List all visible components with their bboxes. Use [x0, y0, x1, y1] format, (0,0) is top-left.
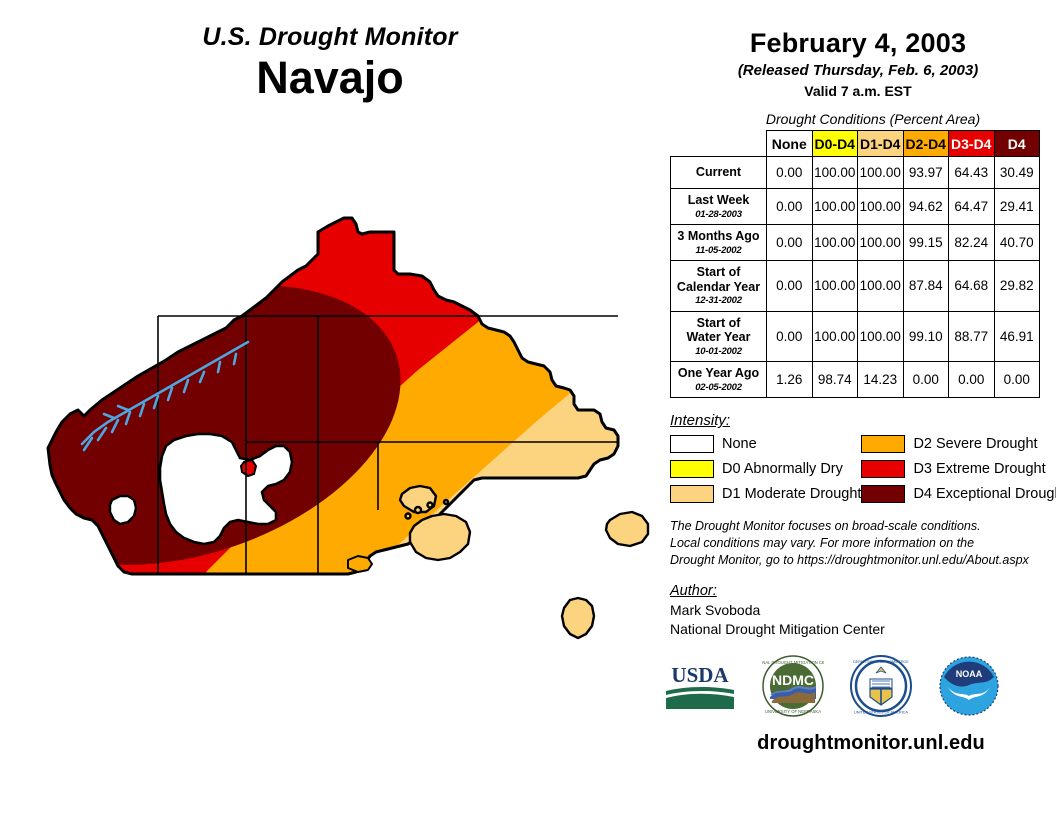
legend-item-d3: D3 Extreme Drought — [861, 459, 1056, 479]
row-label-line: Current — [696, 165, 741, 179]
table-row: Last Week01-28-20030.00100.00100.0094.62… — [671, 189, 1040, 225]
table-row: Start ofWater Year10-01-20020.00100.0010… — [671, 311, 1040, 362]
legend-swatch-d1 — [670, 485, 714, 503]
cell-none: 0.00 — [767, 224, 813, 260]
legend-label-d4: D4 Exceptional Drought — [913, 486, 1056, 502]
column-header-d0-d4: D0-D4 — [812, 131, 858, 157]
svg-text:NDMC: NDMC — [772, 672, 814, 688]
map-drought-bands — [18, 170, 658, 710]
table-body: Current0.00100.00100.0093.9764.4330.49La… — [671, 157, 1040, 398]
cell-d3-d4: 0.00 — [949, 362, 995, 398]
cell-d2-d4: 94.62 — [903, 189, 949, 225]
legend-item-d0: D0 Abnormally Dry — [670, 459, 861, 479]
disclaimer-line-3: Drought Monitor, go to https://droughtmo… — [670, 552, 1056, 569]
cell-none: 0.00 — [767, 189, 813, 225]
cell-d2-d4: 87.84 — [903, 260, 949, 311]
cell-none: 0.00 — [767, 157, 813, 189]
legend-label-none: None — [722, 436, 757, 452]
cell-d2-d4: 99.10 — [903, 311, 949, 362]
table-row: Start ofCalendar Year12-31-20020.00100.0… — [671, 260, 1040, 311]
row-label-5: Start ofWater Year10-01-2002 — [671, 311, 767, 362]
usda-logo[interactable]: USDA — [664, 661, 736, 716]
cell-d0-d4: 98.74 — [812, 362, 858, 398]
legend-swatch-d3 — [861, 460, 905, 478]
legend-label-d0: D0 Abnormally Dry — [722, 461, 843, 477]
row-label-line: Last Week — [688, 193, 750, 207]
region-title: Navajo — [0, 54, 660, 101]
table-header-row: None D0-D4 D1-D4 D2-D4 D3-D4 D4 — [671, 131, 1040, 157]
column-header-d2-d4: D2-D4 — [903, 131, 949, 157]
cell-d1-d4: 100.00 — [858, 224, 904, 260]
cell-d3-d4: 64.68 — [949, 260, 995, 311]
row-label-date: 11-05-2002 — [673, 245, 764, 256]
cell-d2-d4: 93.97 — [903, 157, 949, 189]
drought-monitor-page: U.S. Drought Monitor Navajo — [0, 0, 1056, 816]
row-label-date: 01-28-2003 — [673, 209, 764, 220]
row-label-date: 12-31-2002 — [673, 295, 764, 306]
table-row: 3 Months Ago11-05-20020.00100.00100.0099… — [671, 224, 1040, 260]
right-panel: February 4, 2003 (Released Thursday, Feb… — [660, 0, 1056, 816]
column-header-none: None — [767, 131, 813, 157]
disclaimer-line-1: The Drought Monitor focuses on broad-sca… — [670, 518, 1056, 535]
row-label-3: 3 Months Ago11-05-2002 — [671, 224, 767, 260]
legend-swatch-d0 — [670, 460, 714, 478]
cell-d2-d4: 99.15 — [903, 224, 949, 260]
cell-d1-d4: 100.00 — [858, 260, 904, 311]
row-label-4: Start ofCalendar Year12-31-2002 — [671, 260, 767, 311]
svg-text:UNIVERSITY OF NEBRASKA: UNIVERSITY OF NEBRASKA — [765, 709, 821, 714]
cell-d1-d4: 14.23 — [858, 362, 904, 398]
ndmc-logo[interactable]: NDMC NATIONAL DROUGHT MITIGATION CENTER … — [762, 655, 824, 722]
legend-swatch-none — [670, 435, 714, 453]
author-block: Author: Mark Svoboda National Drought Mi… — [660, 583, 1056, 639]
svg-text:USDA: USDA — [671, 663, 729, 687]
row-label-date: 02-05-2002 — [673, 382, 764, 393]
release-date: (Released Thursday, Feb. 6, 2003) — [660, 62, 1056, 79]
intensity-legend: Intensity: NoneD0 Abnormally DryD1 Moder… — [660, 412, 1056, 504]
author-heading: Author: — [670, 583, 1056, 599]
legend-item-none: None — [670, 434, 861, 454]
valid-date: February 4, 2003 — [660, 28, 1056, 59]
cell-d0-d4: 100.00 — [812, 260, 858, 311]
cell-d0-d4: 100.00 — [812, 157, 858, 189]
disclaimer-line-2: Local conditions may vary. For more info… — [670, 535, 1056, 552]
legend-item-d2: D2 Severe Drought — [861, 434, 1056, 454]
legend-label-d3: D3 Extreme Drought — [913, 461, 1045, 477]
legend-column-right: D2 Severe DroughtD3 Extreme DroughtD4 Ex… — [861, 434, 1056, 504]
cell-none: 0.00 — [767, 260, 813, 311]
cell-d4: 0.00 — [994, 362, 1040, 398]
cell-d0-d4: 100.00 — [812, 224, 858, 260]
title-block: U.S. Drought Monitor Navajo — [0, 24, 660, 101]
cell-d0-d4: 100.00 — [812, 189, 858, 225]
row-label-line: One Year Ago — [678, 366, 759, 380]
row-label-6: One Year Ago02-05-2002 — [671, 362, 767, 398]
website-url[interactable]: droughtmonitor.unl.edu — [660, 732, 1056, 755]
row-label-2: Last Week01-28-2003 — [671, 189, 767, 225]
logo-row: USDA NDMC NATIONAL DROUGHT MITIGATION CE… — [660, 655, 1056, 722]
program-title: U.S. Drought Monitor — [0, 24, 660, 52]
legend-column-left: NoneD0 Abnormally DryD1 Moderate Drought — [670, 434, 861, 504]
cell-none: 1.26 — [767, 362, 813, 398]
drought-conditions-table: None D0-D4 D1-D4 D2-D4 D3-D4 D4 Current0… — [670, 130, 1040, 398]
legend-label-d1: D1 Moderate Drought — [722, 486, 861, 502]
cell-d4: 29.41 — [994, 189, 1040, 225]
legend-item-d1: D1 Moderate Drought — [670, 484, 861, 504]
cell-d2-d4: 0.00 — [903, 362, 949, 398]
row-label-line: Water Year — [687, 330, 751, 344]
valid-time: Valid 7 a.m. EST — [660, 83, 1056, 99]
cell-d4: 30.49 — [994, 157, 1040, 189]
table-row: Current0.00100.00100.0093.9764.4330.49 — [671, 157, 1040, 189]
cell-d3-d4: 64.43 — [949, 157, 995, 189]
table-header: None D0-D4 D1-D4 D2-D4 D3-D4 D4 — [671, 131, 1040, 157]
row-label-1: Current — [671, 157, 767, 189]
drought-map[interactable] — [18, 170, 658, 710]
noaa-logo[interactable]: NOAA — [938, 655, 1000, 722]
cell-d3-d4: 82.24 — [949, 224, 995, 260]
column-header-d1-d4: D1-D4 — [858, 131, 904, 157]
row-label-line: Start of — [697, 316, 741, 330]
cell-d4: 46.91 — [994, 311, 1040, 362]
author-name: Mark Svoboda — [670, 601, 1056, 620]
row-label-line: Calendar Year — [677, 280, 760, 294]
legend-swatch-d4 — [861, 485, 905, 503]
svg-text:NOAA: NOAA — [956, 669, 983, 679]
map-small-orange-parcel — [348, 556, 372, 572]
row-label-date: 10-01-2002 — [673, 346, 764, 357]
svg-text:NATIONAL DROUGHT MITIGATION CE: NATIONAL DROUGHT MITIGATION CENTER — [762, 660, 824, 665]
cell-d3-d4: 64.47 — [949, 189, 995, 225]
legend-label-d2: D2 Severe Drought — [913, 436, 1037, 452]
row-label-line: Start of — [697, 265, 741, 279]
disclaimer-text: The Drought Monitor focuses on broad-sca… — [660, 518, 1056, 569]
svg-text:UNITED STATES OF AMERICA: UNITED STATES OF AMERICA — [854, 710, 908, 714]
legend-item-d4: D4 Exceptional Drought — [861, 484, 1056, 504]
usdc-noaa-seal-logo[interactable]: DEPARTMENT OF COMMERCE UNITED STATES OF … — [850, 655, 912, 722]
date-block: February 4, 2003 (Released Thursday, Feb… — [660, 0, 1056, 99]
column-header-d3-d4: D3-D4 — [949, 131, 995, 157]
svg-text:DEPARTMENT OF COMMERCE: DEPARTMENT OF COMMERCE — [853, 660, 909, 664]
cell-none: 0.00 — [767, 311, 813, 362]
cell-d1-d4: 100.00 — [858, 157, 904, 189]
legend-title: Intensity: — [670, 412, 1056, 429]
table-caption: Drought Conditions (Percent Area) — [660, 111, 1056, 127]
map-svg — [18, 170, 658, 710]
legend-swatch-d2 — [861, 435, 905, 453]
column-header-d4: D4 — [994, 131, 1040, 157]
cell-d3-d4: 88.77 — [949, 311, 995, 362]
author-organization: National Drought Mitigation Center — [670, 620, 1056, 639]
header-corner-blank — [671, 131, 767, 157]
cell-d1-d4: 100.00 — [858, 189, 904, 225]
row-label-line: 3 Months Ago — [677, 229, 759, 243]
table-row: One Year Ago02-05-20021.2698.7414.230.00… — [671, 362, 1040, 398]
cell-d0-d4: 100.00 — [812, 311, 858, 362]
cell-d4: 29.82 — [994, 260, 1040, 311]
cell-d1-d4: 100.00 — [858, 311, 904, 362]
cell-d4: 40.70 — [994, 224, 1040, 260]
